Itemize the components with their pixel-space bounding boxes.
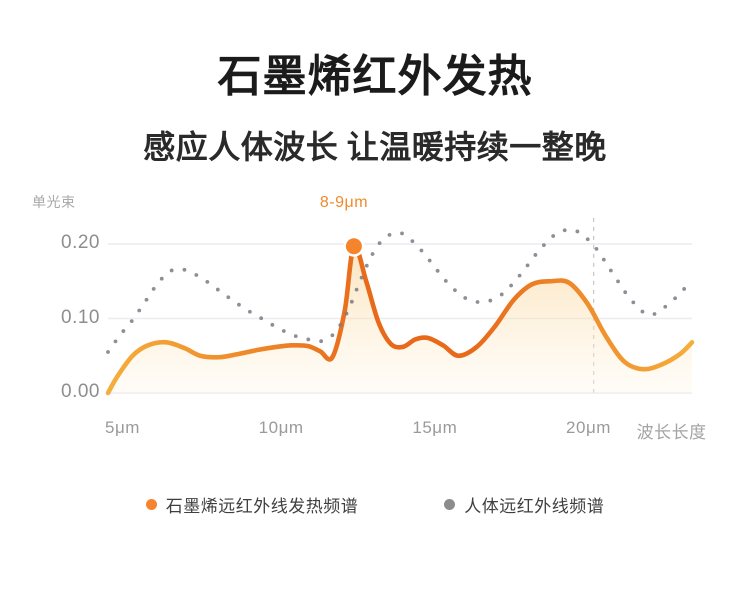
x-axis-tick: 10μm xyxy=(259,418,304,438)
x-axis-tick: 5μm xyxy=(105,418,140,438)
chart-legend: 石墨烯远红外线发热频谱 人体远红外线频谱 xyxy=(0,492,750,517)
legend-item-human-body: 人体远红外线频谱 xyxy=(444,492,604,517)
legend-item-graphene: 石墨烯远红外线发热频谱 xyxy=(146,492,359,517)
page-root: 石墨烯红外发热 感应人体波长 让温暖持续一整晚 单光束 0.20 0.10 0.… xyxy=(0,0,750,605)
legend-dot-icon xyxy=(444,499,455,510)
x-axis-title: 波长长度 xyxy=(637,418,707,443)
chart-plot-area xyxy=(0,178,750,448)
legend-dot-icon xyxy=(146,499,157,510)
x-axis: 5μm 10μm 15μm 20μm 波长长度 xyxy=(0,418,750,444)
x-axis-tick: 15μm xyxy=(412,418,457,438)
spectrum-chart: 单光束 0.20 0.10 0.00 8-9μm xyxy=(0,178,750,448)
page-title: 石墨烯红外发热 xyxy=(0,51,750,104)
legend-item-label: 石墨烯远红外线发热频谱 xyxy=(166,492,359,517)
peak-annotation-label: 8-9μm xyxy=(320,194,368,212)
x-axis-tick: 20μm xyxy=(566,418,611,438)
page-subtitle: 感应人体波长 让温暖持续一整晚 xyxy=(0,127,750,167)
legend-item-label: 人体远红外线频谱 xyxy=(464,492,604,517)
